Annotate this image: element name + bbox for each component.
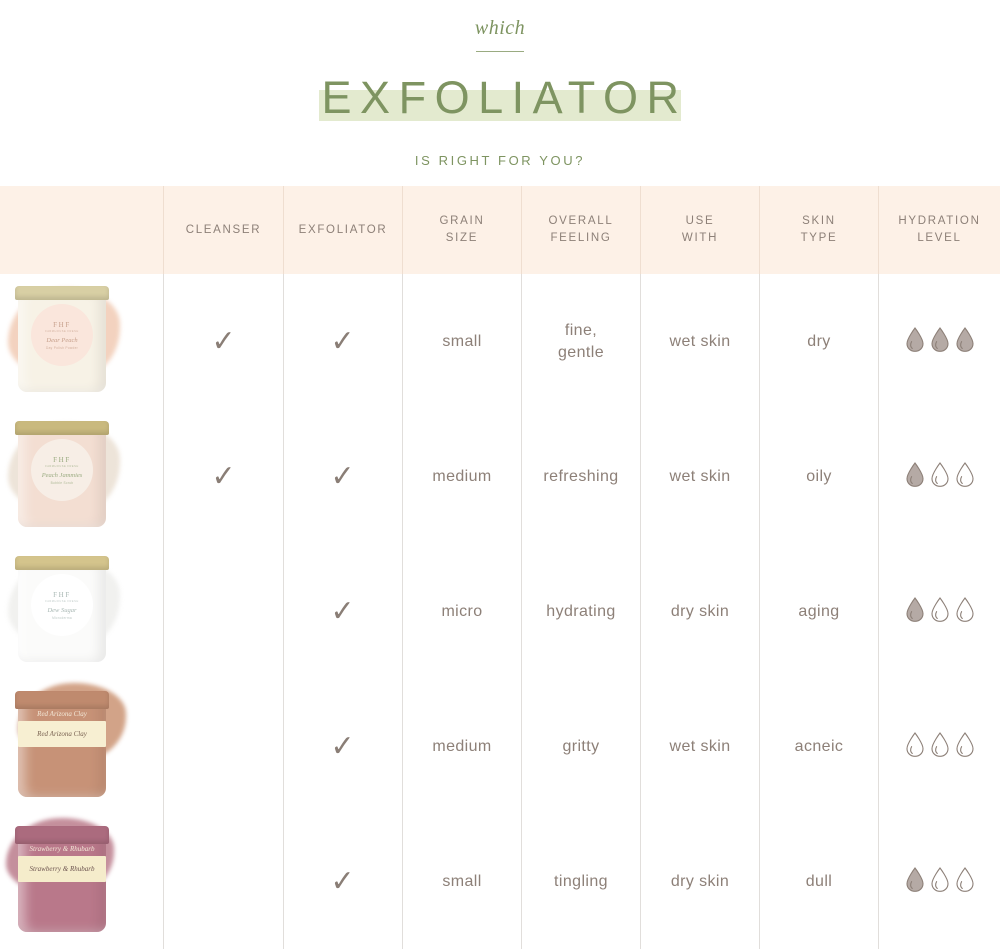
- checkmark-icon: ✓: [331, 462, 355, 492]
- table-row: Red Arizona Clay Red Arizona Clay ✓ medi…: [0, 679, 1000, 814]
- cell-skin-type: dull: [759, 814, 878, 949]
- header-label-grain-size-line1: GRAIN: [440, 215, 485, 227]
- page-title: EXFOLIATOR: [313, 75, 688, 120]
- hydration-droplet-empty: [929, 731, 951, 763]
- cell-overall-feeling-value: fine,gentle: [558, 320, 604, 363]
- cell-skin-type: acneic: [759, 679, 878, 814]
- product-image: FHF FARMHOUSE FRESH Dear Peach Day Polis…: [0, 274, 163, 409]
- product-jar-lid: [15, 421, 109, 435]
- page-header: which EXFOLIATOR IS RIGHT FOR YOU?: [0, 0, 1000, 168]
- cell-overall-feeling: gritty: [521, 679, 640, 814]
- cell-grain-size: medium: [402, 679, 521, 814]
- cell-grain-size-value: small: [442, 331, 481, 353]
- header-cell-overall-feeling: OVERALL FEELING: [521, 186, 640, 274]
- cell-skin-type-value: oily: [806, 466, 832, 488]
- product-label: FHF FARMHOUSE FRESH Peach Jammies Bubble…: [31, 439, 93, 501]
- cell-overall-feeling-value: refreshing: [543, 466, 618, 488]
- header-label-hydration-level-line2: LEVEL: [917, 232, 961, 244]
- table-row: FHF FARMHOUSE FRESH Dear Peach Day Polis…: [0, 274, 1000, 409]
- hydration-droplet-filled: [904, 596, 926, 628]
- product-jar-lid: [15, 556, 109, 570]
- cell-hydration-level: [878, 679, 1000, 814]
- header-label-skin-type-line1: SKIN: [802, 215, 836, 227]
- product-name-banner: Strawberry & Rhubarb: [20, 844, 104, 854]
- product-label: Red Arizona Clay: [18, 721, 106, 747]
- cell-grain-size-value: small: [442, 871, 481, 893]
- checkmark-icon: ✓: [331, 867, 355, 897]
- cell-use-with: dry skin: [640, 544, 759, 679]
- cell-hydration-level: [878, 814, 1000, 949]
- product-jar-lid: [15, 286, 109, 300]
- row-product-cell[interactable]: Red Arizona Clay Red Arizona Clay: [0, 679, 163, 814]
- cell-text-line: gentle: [558, 344, 604, 361]
- cell-cleanser: [163, 544, 283, 679]
- product-brand-tagline: FARMHOUSE FRESH: [45, 600, 78, 603]
- cell-use-with: wet skin: [640, 409, 759, 544]
- hydration-droplet-empty: [954, 731, 976, 763]
- header-cell-exfoliator: EXFOLIATOR: [283, 186, 402, 274]
- product-image: FHF FARMHOUSE FRESH Peach Jammies Bubble…: [0, 409, 163, 544]
- header-label-overall-feeling: OVERALL FEELING: [549, 213, 614, 246]
- cell-exfoliator: ✓: [283, 814, 402, 949]
- cell-use-with: wet skin: [640, 274, 759, 409]
- hydration-droplet-group: [904, 866, 976, 898]
- table-body: FHF FARMHOUSE FRESH Dear Peach Day Polis…: [0, 274, 1000, 949]
- hydration-droplet-filled: [904, 326, 926, 358]
- cell-hydration-level: [878, 274, 1000, 409]
- cell-skin-type-value: dry: [807, 331, 830, 353]
- product-jar-lid: [15, 691, 109, 709]
- hydration-droplet-empty: [904, 731, 926, 763]
- hydration-droplet-group: [904, 326, 976, 358]
- header-label-hydration-level: HYDRATION LEVEL: [898, 213, 980, 246]
- header-cell-cleanser: CLEANSER: [163, 186, 283, 274]
- cell-exfoliator: ✓: [283, 544, 402, 679]
- cell-skin-type-value: aging: [798, 601, 839, 623]
- cell-text-line: fine,: [565, 322, 597, 339]
- cell-use-with: dry skin: [640, 814, 759, 949]
- header-cell-grain-size: GRAIN SIZE: [402, 186, 521, 274]
- hydration-droplet-group: [904, 596, 976, 628]
- table-row: FHF FARMHOUSE FRESH Dew Sugar Microderma…: [0, 544, 1000, 679]
- comparison-table: CLEANSER EXFOLIATOR GRAIN SIZE OVERALL F…: [0, 186, 1000, 949]
- hydration-droplet-empty: [929, 866, 951, 898]
- hydration-droplet-filled: [904, 866, 926, 898]
- cell-text-line: tingling: [554, 873, 608, 890]
- cell-overall-feeling: fine,gentle: [521, 274, 640, 409]
- cell-cleanser: [163, 814, 283, 949]
- product-image: FHF FARMHOUSE FRESH Dew Sugar Microderma: [0, 544, 163, 679]
- cell-hydration-level: [878, 544, 1000, 679]
- cell-grain-size: small: [402, 274, 521, 409]
- header-cell-skin-type: SKIN TYPE: [759, 186, 878, 274]
- header-label-exfoliator: EXFOLIATOR: [299, 222, 388, 239]
- product-image: Strawberry & Rhubarb Strawberry & Rhubar…: [0, 814, 163, 949]
- row-product-cell[interactable]: FHF FARMHOUSE FRESH Dear Peach Day Polis…: [0, 274, 163, 409]
- cell-use-with: wet skin: [640, 679, 759, 814]
- cell-overall-feeling-value: gritty: [562, 736, 599, 758]
- cell-text-line: gritty: [562, 738, 599, 755]
- product-descriptor: Day Polish Powder: [46, 346, 78, 350]
- cell-use-with-value: dry skin: [671, 601, 729, 623]
- header-label-hydration-level-line1: HYDRATION: [898, 215, 980, 227]
- product-brand-tagline: FARMHOUSE FRESH: [45, 330, 78, 333]
- header-label-overall-feeling-line1: OVERALL: [549, 215, 614, 227]
- hydration-droplet-filled: [904, 461, 926, 493]
- cell-use-with-value: wet skin: [670, 736, 731, 758]
- cell-exfoliator: ✓: [283, 409, 402, 544]
- product-brand: FHF: [53, 321, 71, 329]
- cell-cleanser: [163, 679, 283, 814]
- header-label-use-with: USE WITH: [682, 213, 718, 246]
- cell-exfoliator: ✓: [283, 274, 402, 409]
- checkmark-icon: ✓: [212, 462, 236, 492]
- cell-grain-size-value: medium: [432, 466, 491, 488]
- cell-skin-type: dry: [759, 274, 878, 409]
- table-row: FHF FARMHOUSE FRESH Peach Jammies Bubble…: [0, 409, 1000, 544]
- cell-skin-type: oily: [759, 409, 878, 544]
- cell-hydration-level: [878, 409, 1000, 544]
- cell-overall-feeling-value: tingling: [554, 871, 608, 893]
- product-brand-tagline: FARMHOUSE FRESH: [45, 465, 78, 468]
- header-label-cleanser: CLEANSER: [186, 222, 262, 239]
- product-name: Dew Sugar: [47, 607, 76, 614]
- product-label: Strawberry & Rhubarb: [18, 856, 106, 882]
- cell-text-line: hydrating: [546, 603, 615, 620]
- cell-overall-feeling: tingling: [521, 814, 640, 949]
- product-label: FHF FARMHOUSE FRESH Dew Sugar Microderma: [31, 574, 93, 636]
- product-name: Strawberry & Rhubarb: [30, 865, 95, 873]
- product-descriptor: Bubble Scrub: [51, 481, 74, 485]
- hydration-droplet-empty: [929, 596, 951, 628]
- header-label-grain-size: GRAIN SIZE: [440, 213, 485, 246]
- cell-grain-size: medium: [402, 409, 521, 544]
- header-label-grain-size-line2: SIZE: [446, 232, 478, 244]
- product-image: Red Arizona Clay Red Arizona Clay: [0, 679, 163, 814]
- product-name: Peach Jammies: [42, 472, 83, 479]
- cell-skin-type: aging: [759, 544, 878, 679]
- hydration-droplet-empty: [954, 866, 976, 898]
- header-label-use-with-line2: WITH: [682, 232, 718, 244]
- header-label-use-with-line1: USE: [686, 215, 715, 227]
- table-header-row: CLEANSER EXFOLIATOR GRAIN SIZE OVERALL F…: [0, 186, 1000, 274]
- cell-use-with-value: dry skin: [671, 871, 729, 893]
- hydration-droplet-filled: [929, 326, 951, 358]
- cell-grain-size-value: micro: [441, 601, 482, 623]
- cell-grain-size: micro: [402, 544, 521, 679]
- row-product-cell[interactable]: FHF FARMHOUSE FRESH Peach Jammies Bubble…: [0, 409, 163, 544]
- checkmark-icon: ✓: [331, 327, 355, 357]
- product-jar-lid: [15, 826, 109, 844]
- cell-grain-size: small: [402, 814, 521, 949]
- header-cell-hydration-level: HYDRATION LEVEL: [878, 186, 1000, 274]
- row-product-cell[interactable]: FHF FARMHOUSE FRESH Dew Sugar Microderma: [0, 544, 163, 679]
- header-cell-use-with: USE WITH: [640, 186, 759, 274]
- cell-skin-type-value: acneic: [795, 736, 844, 758]
- cell-grain-size-value: medium: [432, 736, 491, 758]
- checkmark-icon: ✓: [212, 327, 236, 357]
- product-name: Red Arizona Clay: [37, 730, 87, 738]
- product-name-banner: Red Arizona Clay: [20, 709, 104, 719]
- cell-use-with-value: wet skin: [670, 331, 731, 353]
- product-descriptor: Microderma: [52, 616, 72, 620]
- cell-overall-feeling-value: hydrating: [546, 601, 615, 623]
- hydration-droplet-empty: [954, 596, 976, 628]
- table-row: Strawberry & Rhubarb Strawberry & Rhubar…: [0, 814, 1000, 949]
- header-rule: [476, 51, 524, 52]
- cell-use-with-value: wet skin: [670, 466, 731, 488]
- header-label-skin-type-line2: TYPE: [801, 232, 838, 244]
- header-kicker: which: [0, 16, 1000, 40]
- hydration-droplet-empty: [929, 461, 951, 493]
- hydration-droplet-empty: [954, 461, 976, 493]
- product-name: Dear Peach: [46, 337, 77, 344]
- cell-cleanser: ✓: [163, 274, 283, 409]
- hydration-droplet-group: [904, 731, 976, 763]
- hydration-droplet-filled: [954, 326, 976, 358]
- cell-text-line: refreshing: [543, 468, 618, 485]
- cell-overall-feeling: hydrating: [521, 544, 640, 679]
- cell-skin-type-value: dull: [806, 871, 833, 893]
- checkmark-icon: ✓: [331, 732, 355, 762]
- row-product-cell[interactable]: Strawberry & Rhubarb Strawberry & Rhubar…: [0, 814, 163, 949]
- cell-exfoliator: ✓: [283, 679, 402, 814]
- page-title-wrap: EXFOLIATOR: [0, 66, 1000, 128]
- product-label: FHF FARMHOUSE FRESH Dear Peach Day Polis…: [31, 304, 93, 366]
- header-label-overall-feeling-line2: FEELING: [550, 232, 611, 244]
- header-cell-product: [0, 186, 163, 274]
- header-label-skin-type: SKIN TYPE: [801, 213, 838, 246]
- product-brand: FHF: [53, 591, 71, 599]
- cell-cleanser: ✓: [163, 409, 283, 544]
- cell-overall-feeling: refreshing: [521, 409, 640, 544]
- product-brand: FHF: [53, 456, 71, 464]
- page-subtitle: IS RIGHT FOR YOU?: [0, 153, 1000, 168]
- hydration-droplet-group: [904, 461, 976, 493]
- checkmark-icon: ✓: [331, 597, 355, 627]
